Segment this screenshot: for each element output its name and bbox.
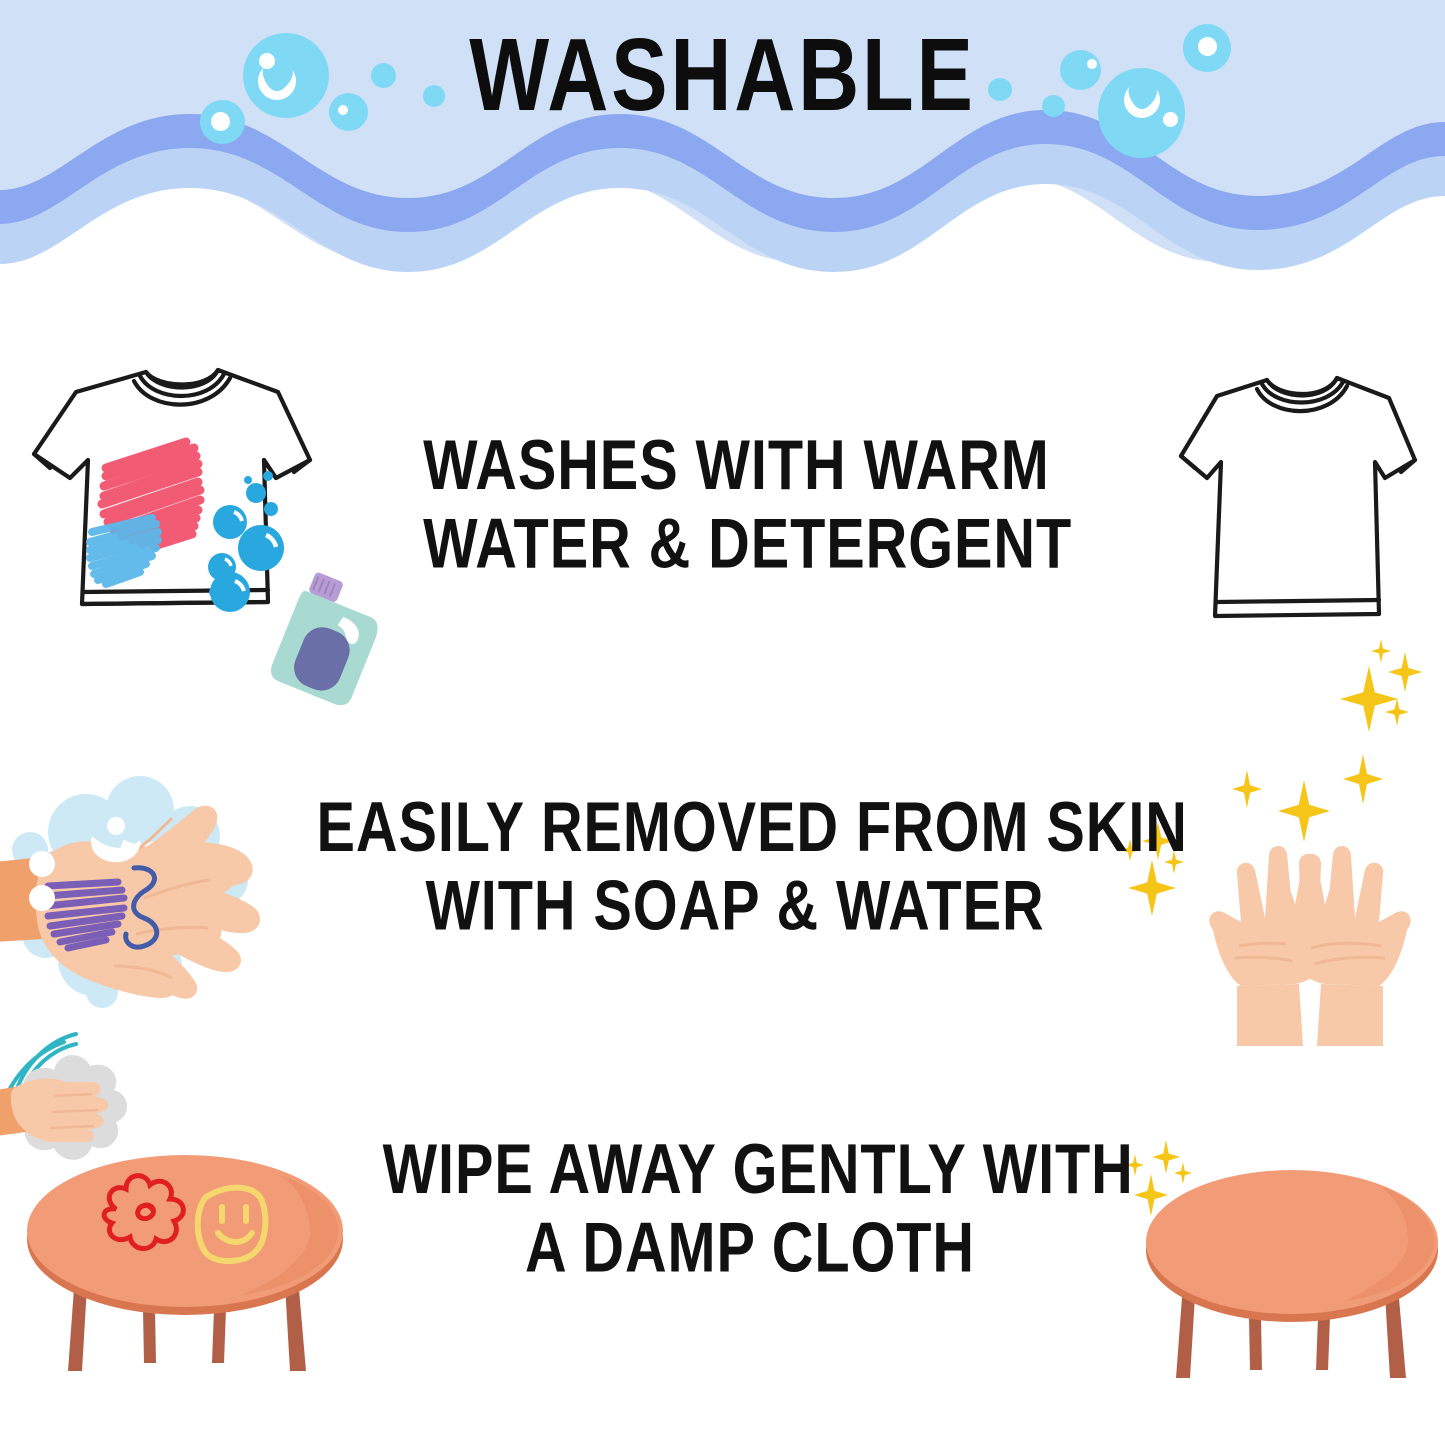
table-top [27,1155,343,1307]
row-wash-line-1: WASHES WITH WARM [423,426,1037,505]
hand-holding-cloth [0,1079,108,1142]
table-with-doodles-illustration [20,1135,350,1390]
infographic-page: WASHABLE [0,0,1445,1445]
clean-hands-illustration [1185,818,1435,1048]
detergent-bottle-icon [256,570,386,705]
sparkle-icon [1232,770,1262,808]
row-wash-line-2: WATER & DETERGENT [423,505,1037,584]
row-surface-text: WIPE AWAY GENTLY WITH A DAMP CLOTH [383,1130,1118,1288]
sparkle-icon [1385,698,1409,726]
tshirt-body [1181,378,1415,616]
table-top [1146,1170,1438,1314]
row-skin: EASILY REMOVED FROM SKIN WITH SOAP & WAT… [0,760,1445,1060]
row-skin-text: EASILY REMOVED FROM SKIN WITH SOAP & WAT… [317,788,1154,946]
tshirt-hem [1217,600,1379,602]
row-surface-line-2: A DAMP CLOTH [383,1209,1118,1288]
row-wash: WASHES WITH WARM WATER & DETERGENT [0,330,1445,750]
sparkle-icon [1343,754,1383,804]
row-skin-line-2: WITH SOAP & WATER [317,867,1154,946]
row-surface: WIPE AWAY GENTLY WITH A DAMP CLOTH [0,1020,1445,1445]
row-skin-line-1: EASILY REMOVED FROM SKIN [317,788,1154,867]
clean-tshirt-illustration [1175,362,1425,682]
page-title: WASHABLE [58,24,1387,127]
hands-washing-illustration [0,770,294,1030]
header-banner: WASHABLE [0,0,1445,300]
row-surface-line-1: WIPE AWAY GENTLY WITH [383,1130,1118,1209]
clean-table-illustration [1142,1148,1442,1398]
row-wash-text: WASHES WITH WARM WATER & DETERGENT [423,426,1037,584]
